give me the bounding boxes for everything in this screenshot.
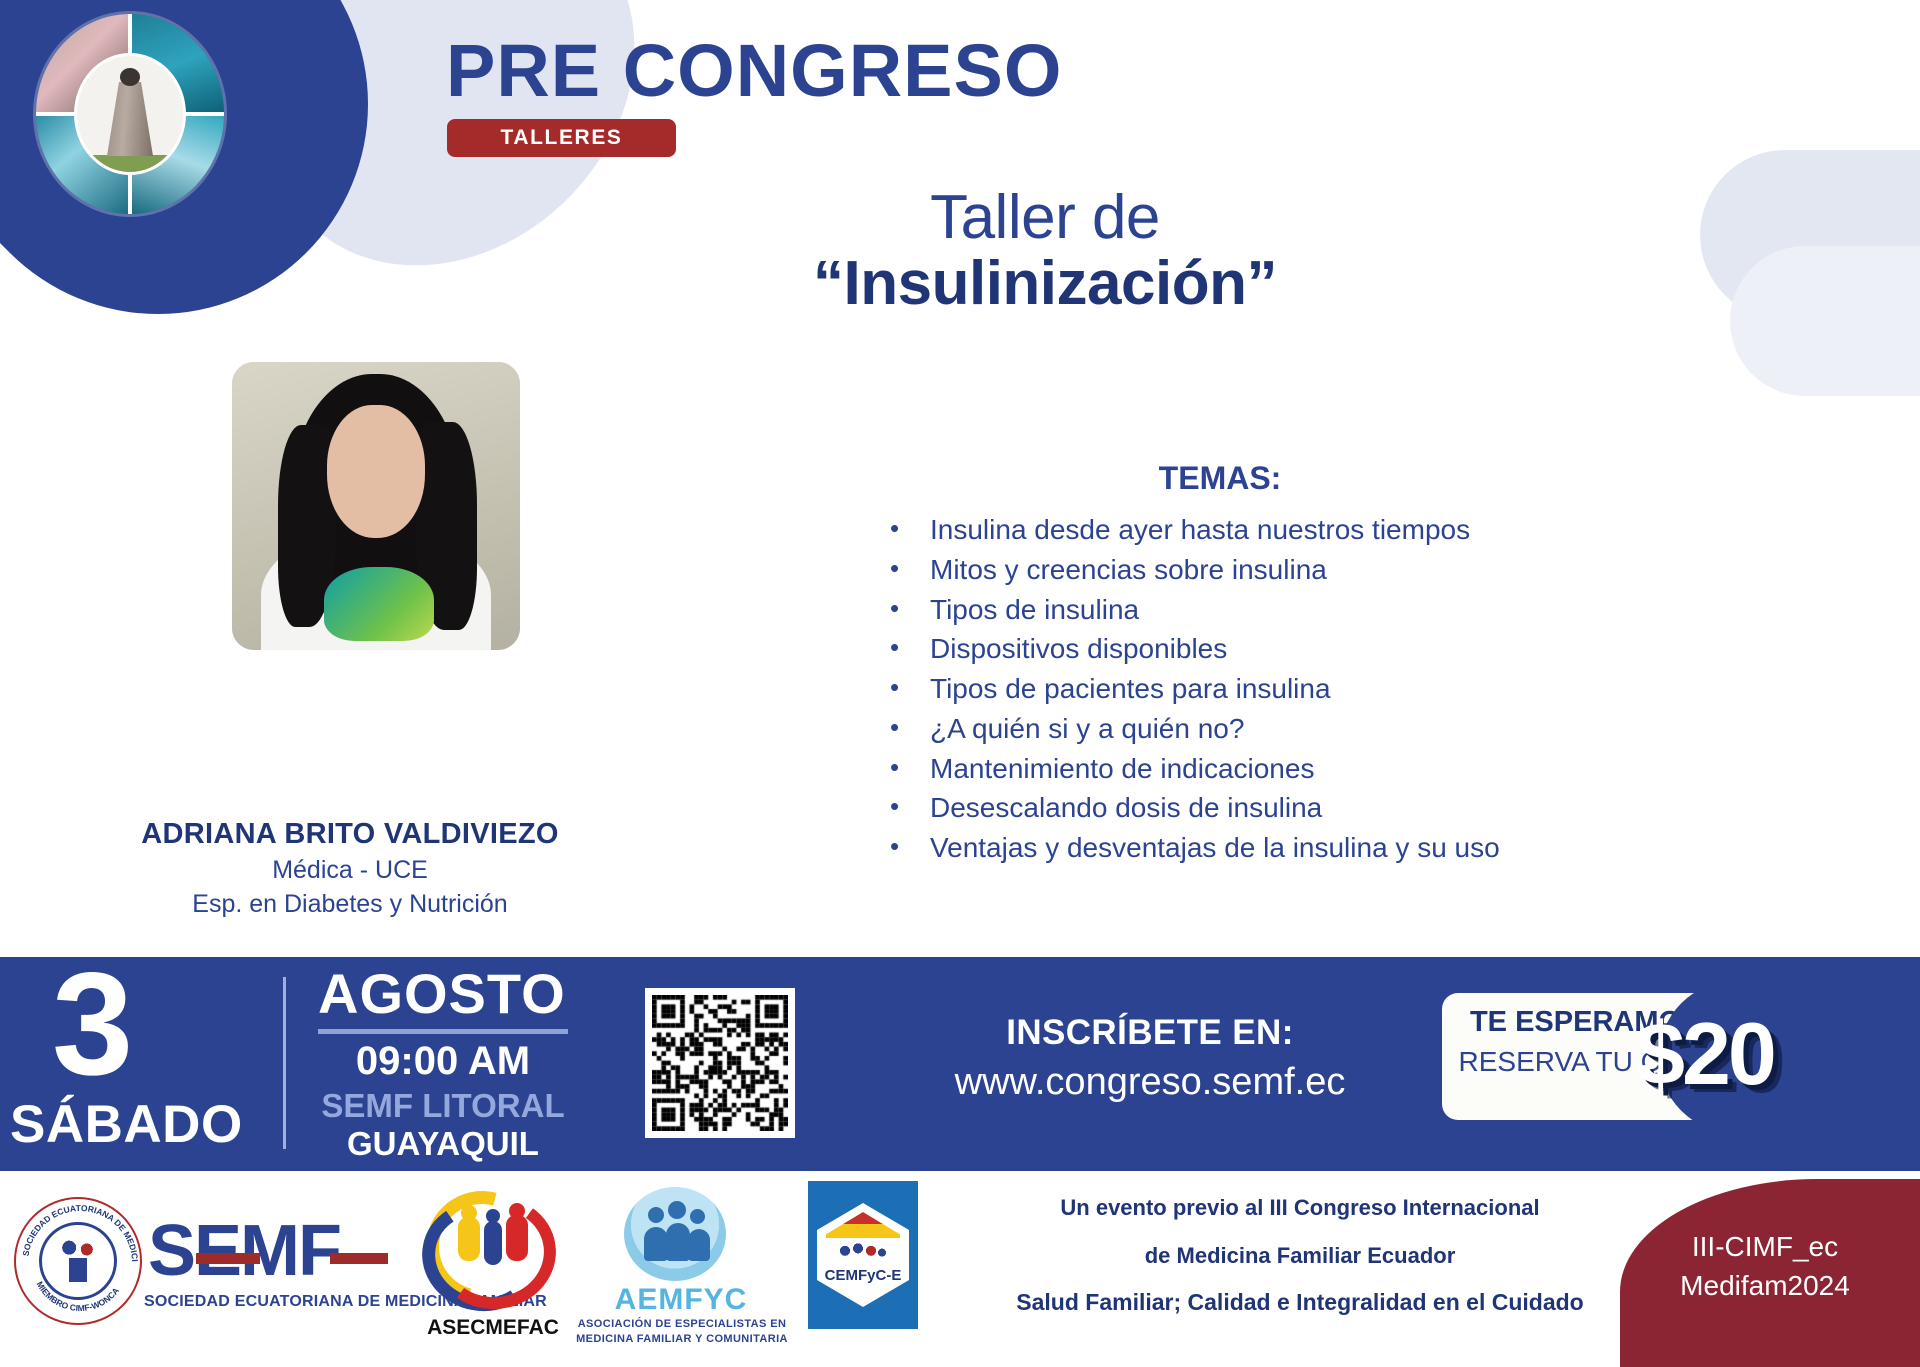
event-month: AGOSTO (318, 961, 566, 1026)
cemfyc-wordmark: CEMFyC-E (825, 1267, 902, 1284)
speaker-role: Médica - UCE (0, 856, 700, 885)
list-item: •Tipos de pacientes para insulina (890, 669, 1500, 709)
register-label: INSCRÍBETE EN: (930, 1013, 1370, 1053)
cemfyc-icon: CEMFyC-E (808, 1181, 918, 1329)
bullet-icon: • (890, 788, 930, 825)
list-item: •Mitos y creencias sobre insulina (890, 550, 1500, 590)
event-day-name: SÁBADO (10, 1094, 243, 1155)
page-title: PRE CONGRESO (446, 28, 1062, 113)
bullet-icon: • (890, 709, 930, 746)
list-item-label: Insulina desde ayer hasta nuestros tiemp… (930, 510, 1470, 550)
workshop-title-line2: “Insulinización” (0, 248, 1920, 319)
list-item-label: Mitos y creencias sobre insulina (930, 550, 1327, 590)
horizontal-rule (318, 1029, 568, 1034)
list-item: •Ventajas y desventajas de la insulina y… (890, 828, 1500, 868)
brand-hashtag-line2: Medifam2024 (1650, 1270, 1880, 1302)
list-item: •Desescalando dosis de insulina (890, 788, 1500, 828)
brand-hashtag-line1: III-CIMF_ec (1650, 1231, 1880, 1263)
bullet-icon: • (890, 629, 930, 666)
temas-list: •Insulina desde ayer hasta nuestros tiem… (890, 510, 1500, 868)
list-item-label: ¿A quién si y a quién no? (930, 709, 1244, 749)
event-details-bar: 3 SÁBADO AGOSTO 09:00 AM SEMF LITORAL GU… (0, 957, 1920, 1171)
bullet-icon: • (890, 828, 930, 865)
list-item: •Insulina desde ayer hasta nuestros tiem… (890, 510, 1500, 550)
vertical-divider (283, 977, 286, 1149)
semf-strike-1 (196, 1253, 260, 1264)
event-hour: 09:00 AM (318, 1039, 568, 1084)
list-item-label: Tipos de pacientes para insulina (930, 669, 1331, 709)
event-note-line3: Salud Familiar; Calidad e Integralidad e… (950, 1289, 1650, 1316)
event-venue: SEMF LITORAL (318, 1087, 568, 1125)
footer: SOCIEDAD ECUATORIANA DE MEDICINA FAMILIA… (0, 1171, 1920, 1355)
bullet-icon: • (890, 749, 930, 786)
speaker-specialty: Esp. en Diabetes y Nutrición (0, 890, 700, 919)
qr-code[interactable] (645, 988, 795, 1138)
monument-icon (74, 53, 186, 175)
list-item-label: Desescalando dosis de insulina (930, 788, 1322, 828)
list-item-label: Mantenimiento de indicaciones (930, 749, 1314, 789)
list-item-label: Ventajas y desventajas de la insulina y … (930, 828, 1500, 868)
list-item: •Tipos de insulina (890, 590, 1500, 630)
list-item-label: Dispositivos disponibles (930, 629, 1227, 669)
list-item: •¿A quién si y a quién no? (890, 709, 1500, 749)
aemfyc-icon (610, 1185, 740, 1291)
semf-wordmark: SEMF (148, 1215, 340, 1287)
list-item: •Dispositivos disponibles (890, 629, 1500, 669)
price-badge: $20 (1636, 1003, 1774, 1105)
bullet-icon: • (890, 669, 930, 706)
event-city: GUAYAQUIL (318, 1125, 568, 1163)
semf-strike-2 (330, 1253, 388, 1264)
list-item-label: Tipos de insulina (930, 590, 1139, 630)
aemfyc-wordmark: AEMFYC (586, 1283, 776, 1317)
stethoscope-family-icon (39, 1222, 117, 1300)
talleres-badge: TALLERES (447, 119, 676, 157)
aemfyc-subtitle: ASOCIACIÓN DE ESPECIALISTAS EN MEDICINA … (572, 1317, 792, 1347)
bullet-icon: • (890, 590, 930, 627)
workshop-title-line1: Taller de (0, 182, 1920, 253)
speaker-name: ADRIANA BRITO VALDIVIEZO (0, 818, 700, 851)
event-note-line1: Un evento previo al III Congreso Interna… (960, 1197, 1640, 1219)
list-item: •Mantenimiento de indicaciones (890, 749, 1500, 789)
semf-seal-icon: SOCIEDAD ECUATORIANA DE MEDICINA FAMILIA… (14, 1197, 142, 1325)
temas-heading: TEMAS: (900, 460, 1540, 497)
speaker-photo (232, 362, 520, 650)
bullet-icon: • (890, 550, 930, 587)
asecmefac-icon (420, 1187, 562, 1309)
bullet-icon: • (890, 510, 930, 547)
event-note-line2: de Medicina Familiar Ecuador (960, 1243, 1640, 1269)
poster-root: PRE CONGRESO TALLERES Taller de “Insulin… (0, 0, 1920, 1355)
website-link[interactable]: www.congreso.semf.ec (900, 1061, 1400, 1104)
asecmefac-label: ASECMEFAC (398, 1316, 588, 1340)
event-day-number: 3 (52, 951, 133, 1097)
